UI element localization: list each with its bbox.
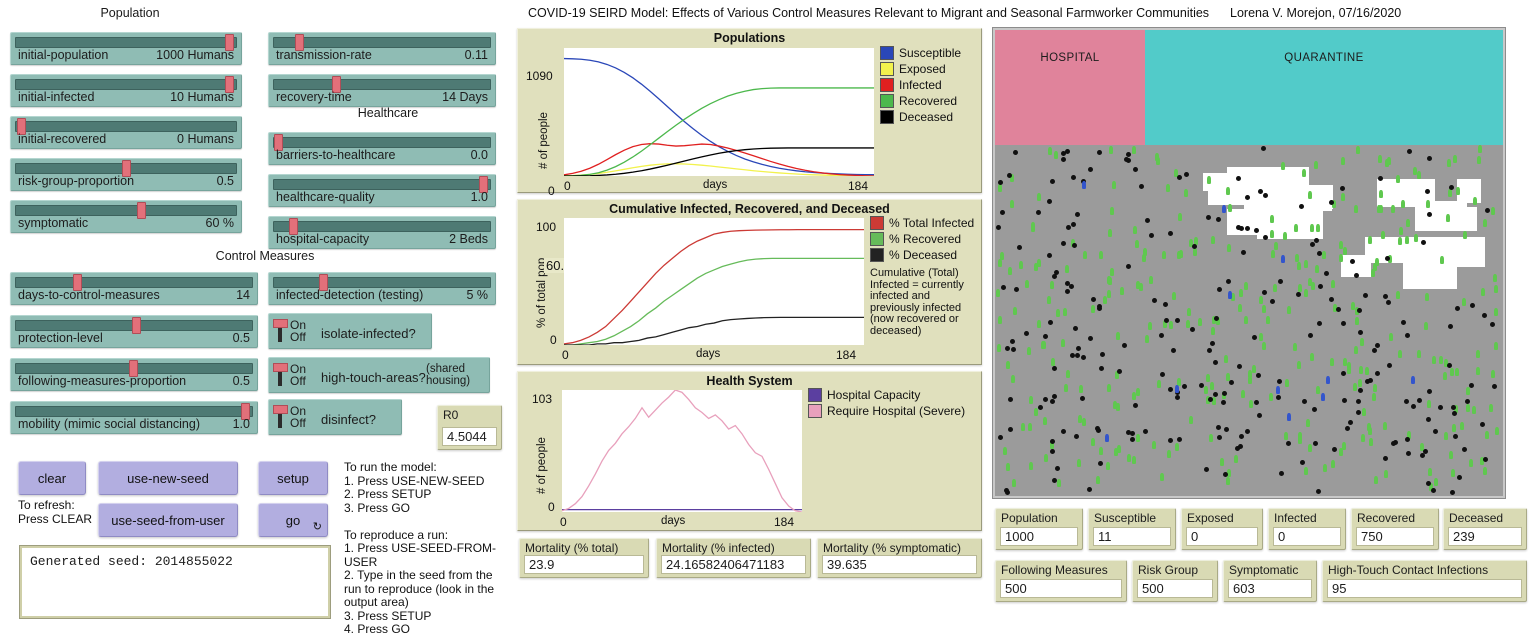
agent-deceased (1368, 378, 1373, 383)
agent-recovered (1021, 423, 1025, 431)
world-field[interactable] (995, 145, 1503, 496)
agent-deceased (1088, 336, 1093, 341)
slider-days-to-control-measures[interactable]: days-to-control-measures 14 (10, 272, 258, 305)
agent-recovered (1226, 477, 1230, 485)
agent-deceased (1152, 298, 1157, 303)
monitor-title: Mortality (% symptomatic) (823, 541, 961, 555)
agent-recovered (1414, 234, 1418, 242)
agent-deceased (1340, 186, 1345, 191)
plot-title: Cumulative Infected, Recovered, and Dece… (518, 202, 981, 216)
agent-recovered (1077, 459, 1081, 467)
slider-initial-recovered[interactable]: initial-recovered 0 Humans (10, 116, 242, 149)
legend-label: % Deceased (889, 248, 957, 262)
agent-recovered (1315, 265, 1319, 273)
agent-deceased (1345, 426, 1350, 431)
x-axis-label: days (661, 515, 685, 527)
agent-recovered (1491, 370, 1495, 378)
agent-recovered (1244, 282, 1248, 290)
use-new-seed-button[interactable]: use-new-seed (98, 461, 238, 495)
agent-deceased (1316, 489, 1321, 494)
agent-recovered (1269, 393, 1273, 401)
agent-recovered (1469, 459, 1473, 467)
agent-recovered (1476, 367, 1480, 375)
slider-track[interactable] (273, 221, 491, 232)
legend-swatch (880, 78, 894, 92)
y-axis-label: # of people (536, 437, 548, 494)
agent-recovered (1383, 422, 1387, 430)
legend-label: Hospital Capacity (827, 388, 920, 402)
monitor-title: R0 (443, 408, 458, 422)
agent-deceased (1074, 434, 1079, 439)
agent-deceased (1401, 320, 1406, 325)
agent-recovered (1127, 454, 1131, 462)
slider-value: 14 (236, 288, 250, 302)
y-tick-max: 103 (532, 392, 552, 406)
agent-recovered (1136, 388, 1140, 396)
plot-canvas-health-system (562, 390, 802, 512)
agent-recovered (1262, 342, 1266, 350)
legend-swatch (880, 94, 894, 108)
agent-recovered (1175, 443, 1179, 451)
agent-deceased (1071, 175, 1076, 180)
agent-recovered (1259, 333, 1263, 341)
monitor-value: 0 (1273, 527, 1341, 546)
agent-deceased (1055, 466, 1060, 471)
agent-recovered (1331, 460, 1335, 468)
agent-recovered (1207, 176, 1211, 184)
agent-recovered (1384, 470, 1388, 478)
slider-initial-population[interactable]: initial-population 1000 Humans (10, 32, 242, 65)
agent-recovered (1493, 274, 1497, 282)
agent-recovered (1132, 392, 1136, 400)
agent-recovered (1160, 473, 1164, 481)
monitor-value: 0 (1186, 527, 1258, 546)
legend-label: Susceptible (899, 46, 961, 60)
slider-track[interactable] (15, 277, 253, 288)
slider-track[interactable] (15, 205, 237, 216)
agent-deceased (1270, 299, 1275, 304)
slider-transmission-rate[interactable]: transmission-rate 0.11 (268, 32, 496, 65)
agent-deceased (1070, 353, 1075, 358)
switch-high-touch-areas[interactable]: On Off high-touch-areas? (shared housing… (268, 357, 490, 393)
agent-deceased (1126, 152, 1131, 157)
agent-recovered (1143, 248, 1147, 256)
agent-deceased (1052, 366, 1057, 371)
agent-deceased (1011, 347, 1016, 352)
agent-deceased (1342, 398, 1347, 403)
clear-button[interactable]: clear (18, 461, 86, 495)
agent-recovered (1107, 276, 1111, 284)
agent-deceased (1100, 352, 1105, 357)
slider-value: 0.11 (465, 48, 488, 62)
agent-deceased (1038, 405, 1043, 410)
agent-deceased (1133, 403, 1138, 408)
monitor-title: Recovered (1357, 511, 1415, 525)
quarantine-zone: QUARANTINE (1145, 30, 1503, 145)
agent-recovered (1302, 169, 1306, 177)
agent-deceased (1258, 189, 1263, 194)
agent-recovered (1369, 438, 1373, 446)
agent-recovered (1453, 155, 1457, 163)
slider-track[interactable] (273, 137, 491, 148)
agent-deceased (1354, 273, 1359, 278)
agent-deceased (1145, 218, 1150, 223)
agent-recovered (1133, 226, 1137, 234)
model-author-text: Lorena V. Morejon, 07/16/2020 (1230, 6, 1401, 20)
agent-deceased (1001, 285, 1006, 290)
agent-susceptible (1228, 291, 1232, 299)
agent-recovered (1456, 187, 1460, 195)
agent-recovered (1485, 431, 1489, 439)
agent-recovered (1025, 280, 1029, 288)
agent-recovered (1427, 400, 1431, 408)
agent-recovered (1224, 355, 1228, 363)
agent-recovered (1152, 441, 1156, 449)
agent-recovered (1057, 479, 1061, 487)
setup-button[interactable]: setup (258, 461, 328, 495)
agent-deceased (1168, 231, 1173, 236)
plot-legend-cumulative: % Total Infected% Recovered% DeceasedCum… (870, 216, 982, 337)
slider-healthcare-quality[interactable]: healthcare-quality 1.0 (268, 174, 496, 207)
agent-deceased (1048, 320, 1053, 325)
switch-label: high-touch-areas? (321, 370, 426, 385)
monitor-title: Infected (1274, 511, 1317, 525)
agent-recovered (1473, 197, 1477, 205)
slider-protection-level[interactable]: protection-level 0.5 (10, 315, 258, 348)
agent-recovered (1172, 292, 1176, 300)
section-label-healthcare: Healthcare (288, 106, 488, 120)
agent-deceased (1075, 212, 1080, 217)
agent-recovered (1187, 308, 1191, 316)
legend-swatch (870, 248, 884, 262)
agent-deceased (1406, 451, 1411, 456)
agent-deceased (1449, 185, 1454, 190)
agent-recovered (1285, 379, 1289, 387)
agent-recovered (1155, 153, 1159, 161)
go-button-label: go (286, 513, 300, 528)
agent-deceased (1171, 348, 1176, 353)
shared-housing-patch (1457, 179, 1481, 203)
generated-seed-output[interactable]: Generated seed: 2014855022 (20, 546, 330, 618)
legend-swatch (808, 388, 822, 402)
section-label-control-measures: Control Measures (160, 249, 370, 263)
agent-deceased (1386, 300, 1391, 305)
slider-track[interactable] (15, 121, 237, 132)
agent-deceased (1427, 389, 1432, 394)
plot-legend-populations: SusceptibleExposedInfectedRecoveredDecea… (880, 46, 961, 126)
agent-deceased (1329, 200, 1334, 205)
agent-recovered (1308, 444, 1312, 452)
agent-recovered (1398, 237, 1402, 245)
agent-recovered (1091, 305, 1095, 313)
monitor-population: Population 1000 (995, 508, 1083, 550)
agent-recovered (1360, 338, 1364, 346)
agent-recovered (1177, 251, 1181, 259)
slider-label: risk-group-proportion (18, 174, 134, 188)
agent-recovered (1050, 281, 1054, 289)
agent-susceptible (1222, 205, 1226, 213)
agent-deceased (1122, 343, 1127, 348)
slider-label: barriers-to-healthcare (276, 148, 396, 162)
agent-deceased (1182, 384, 1187, 389)
slider-track[interactable] (273, 179, 491, 190)
agent-recovered (1365, 367, 1369, 375)
agent-recovered (1472, 406, 1476, 414)
slider-label: transmission-rate (276, 48, 372, 62)
agent-recovered (1008, 267, 1012, 275)
agent-deceased (1050, 399, 1055, 404)
agent-deceased (1427, 212, 1432, 217)
legend-swatch (880, 46, 894, 60)
slider-risk-group-proportion[interactable]: risk-group-proportion 0.5 (10, 158, 242, 191)
agent-deceased (1286, 441, 1291, 446)
agent-recovered (1297, 361, 1301, 369)
agent-susceptible (1321, 393, 1325, 401)
agent-deceased (1411, 404, 1416, 409)
agent-recovered (1136, 434, 1140, 442)
legend-label: % Recovered (889, 232, 961, 246)
slider-track[interactable] (15, 406, 253, 417)
legend-item: Susceptible (880, 46, 961, 60)
agent-recovered (1065, 265, 1069, 273)
slider-thumb[interactable] (137, 202, 146, 219)
monitor-value: 1000 (1000, 527, 1078, 546)
agent-recovered (1107, 290, 1111, 298)
agent-deceased (1117, 369, 1122, 374)
slider-infected-detection[interactable]: infected-detection (testing) 5 % (268, 272, 496, 305)
agent-deceased (1261, 146, 1266, 151)
switch-disinfect[interactable]: On Off disinfect? (268, 399, 402, 435)
agent-recovered (1310, 224, 1314, 232)
agent-deceased (1061, 429, 1066, 434)
use-seed-from-user-button[interactable]: use-seed-from-user (98, 503, 238, 537)
agent-deceased (1277, 379, 1282, 384)
agent-susceptible (1326, 376, 1330, 384)
agent-recovered (1489, 404, 1493, 412)
agent-deceased (1358, 388, 1363, 393)
agent-deceased (1404, 399, 1409, 404)
monitor-title: Symptomatic (1229, 563, 1298, 577)
agent-recovered (1262, 305, 1266, 313)
slider-track[interactable] (15, 37, 237, 48)
agent-recovered (1096, 476, 1100, 484)
agent-deceased (1050, 439, 1055, 444)
monitor-title: Exposed (1187, 511, 1234, 525)
world-view[interactable]: HOSPITAL QUARANTINE (993, 28, 1505, 498)
agent-recovered (1227, 244, 1231, 252)
slider-track[interactable] (273, 79, 491, 90)
agent-recovered (1306, 419, 1310, 427)
agent-recovered (1381, 231, 1385, 239)
slider-track[interactable] (273, 277, 491, 288)
agent-recovered (1167, 450, 1171, 458)
agent-deceased (1314, 238, 1319, 243)
x-tick-min: 0 (560, 515, 567, 529)
agent-deceased (1130, 437, 1135, 442)
agent-recovered (1132, 456, 1136, 464)
agent-recovered (1347, 366, 1351, 374)
agent-deceased (1065, 149, 1070, 154)
agent-recovered (1368, 236, 1372, 244)
switch-isolate-infected[interactable]: On Off isolate-infected? (268, 313, 432, 349)
agent-deceased (1483, 457, 1488, 462)
legend-label: % Total Infected (889, 216, 974, 230)
agent-deceased (1245, 429, 1250, 434)
x-axis-label: days (703, 179, 727, 191)
agent-deceased (1236, 176, 1241, 181)
agent-recovered (1358, 379, 1362, 387)
section-label-population: Population (30, 6, 230, 20)
x-tick-max: 184 (836, 348, 856, 362)
agent-deceased (1072, 243, 1077, 248)
agent-recovered (1405, 236, 1409, 244)
agent-recovered (1107, 384, 1111, 392)
monitor-value: 750 (1356, 527, 1434, 546)
agent-recovered (1028, 423, 1032, 431)
agent-deceased (1008, 427, 1013, 432)
agent-deceased (1262, 290, 1267, 295)
slider-symptomatic[interactable]: symptomatic 60 % (10, 200, 242, 233)
agent-deceased (1313, 441, 1318, 446)
agent-deceased (1324, 271, 1329, 276)
agent-recovered (1079, 385, 1083, 393)
monitor-value: 24.16582406471183 (661, 555, 806, 574)
slider-value: 1.0 (233, 417, 250, 431)
agent-deceased (1237, 364, 1242, 369)
slider-track[interactable] (15, 79, 237, 90)
agent-recovered (997, 344, 1001, 352)
agent-deceased (1014, 287, 1019, 292)
slider-following-measures-proportion[interactable]: following-measures-proportion 0.5 (10, 358, 258, 391)
agent-recovered (1252, 365, 1256, 373)
slider-label: infected-detection (testing) (276, 288, 423, 302)
model-title: COVID-19 SEIRD Model: Effects of Various… (528, 6, 1401, 20)
agent-deceased (1263, 193, 1268, 198)
agent-deceased (1256, 373, 1261, 378)
slider-recovery-time[interactable]: recovery-time 14 Days (268, 74, 496, 107)
agent-recovered (996, 289, 1000, 297)
agent-deceased (1279, 471, 1284, 476)
switch-label: disinfect? (321, 412, 376, 427)
agent-deceased (1175, 318, 1180, 323)
slider-label: initial-infected (18, 90, 94, 104)
agent-recovered (1211, 236, 1215, 244)
agent-deceased (1318, 284, 1323, 289)
agent-recovered (1287, 306, 1291, 314)
slider-barriers-to-healthcare[interactable]: barriers-to-healthcare 0.0 (268, 132, 496, 165)
agent-recovered (1440, 256, 1444, 264)
agent-deceased (1336, 307, 1341, 312)
agent-deceased (1159, 333, 1164, 338)
agent-recovered (1483, 467, 1487, 475)
agent-deceased (1431, 488, 1436, 493)
agent-recovered (1396, 175, 1400, 183)
slider-thumb[interactable] (132, 317, 141, 334)
agent-deceased (1302, 399, 1307, 404)
monitor-mortality-symptomatic: Mortality (% symptomatic) 39.635 (817, 538, 982, 578)
agent-deceased (1229, 380, 1234, 385)
agent-deceased (1329, 297, 1334, 302)
agent-susceptible (1175, 385, 1179, 393)
slider-track[interactable] (273, 37, 491, 48)
agent-deceased (1241, 250, 1246, 255)
legend-item: Deceased (880, 110, 961, 124)
agent-recovered (998, 259, 1002, 267)
hospital-zone: HOSPITAL (995, 30, 1145, 145)
agent-recovered (1211, 327, 1215, 335)
agent-recovered (1110, 268, 1114, 276)
slider-hospital-capacity[interactable]: hospital-capacity 2 Beds (268, 216, 496, 249)
plot-canvas-cumulative (564, 218, 864, 345)
agent-recovered (1322, 251, 1326, 259)
agent-recovered (1432, 356, 1436, 364)
agent-deceased (1013, 150, 1018, 155)
monitor-value: 239 (1448, 527, 1522, 546)
slider-value: 10 Humans (170, 90, 234, 104)
legend-label: Recovered (899, 94, 957, 108)
agent-deceased (1087, 487, 1092, 492)
agent-deceased (1175, 395, 1180, 400)
agent-susceptible (1287, 413, 1291, 421)
agent-deceased (1372, 348, 1377, 353)
go-button[interactable]: go ↻ (258, 503, 328, 537)
agent-deceased (1375, 343, 1380, 348)
agent-recovered (1271, 250, 1275, 258)
x-tick-max: 184 (774, 515, 794, 529)
agent-recovered (1354, 346, 1358, 354)
agent-deceased (1452, 411, 1457, 416)
agent-recovered (1029, 462, 1033, 470)
agent-deceased (1076, 346, 1081, 351)
forever-loop-icon: ↻ (313, 520, 322, 533)
agent-deceased (1204, 467, 1209, 472)
agent-recovered (1455, 368, 1459, 376)
agent-recovered (1198, 318, 1202, 326)
agent-recovered (1238, 304, 1242, 312)
agent-deceased (1387, 363, 1392, 368)
agent-deceased (1206, 215, 1211, 220)
switch-knob[interactable] (273, 319, 288, 328)
slider-initial-infected[interactable]: initial-infected 10 Humans (10, 74, 242, 107)
agent-recovered (1031, 224, 1035, 232)
switch-knob[interactable] (273, 363, 288, 372)
agent-deceased (1216, 217, 1221, 222)
agent-recovered (1117, 445, 1121, 453)
agent-deceased (1310, 242, 1315, 247)
agent-deceased (1099, 366, 1104, 371)
agent-deceased (1024, 331, 1029, 336)
agent-deceased (1341, 321, 1346, 326)
agent-deceased (1061, 241, 1066, 246)
monitor-title: Mortality (% total) (525, 541, 618, 555)
agent-deceased (1221, 400, 1226, 405)
agent-deceased (1163, 302, 1168, 307)
agent-recovered (1034, 408, 1038, 416)
agent-deceased (1469, 383, 1474, 388)
slider-mobility[interactable]: mobility (mimic social distancing) 1.0 (10, 401, 258, 434)
agent-recovered (1056, 309, 1060, 317)
monitor-value: 500 (1137, 579, 1213, 598)
agent-recovered (1113, 401, 1117, 409)
switch-label: isolate-infected? (321, 326, 416, 341)
agent-deceased (1426, 417, 1431, 422)
agent-recovered (1266, 316, 1270, 324)
agent-recovered (1428, 468, 1432, 476)
agent-recovered (1210, 382, 1214, 390)
switch-knob[interactable] (273, 405, 288, 414)
agent-deceased (1036, 210, 1041, 215)
agent-deceased (1097, 150, 1102, 155)
